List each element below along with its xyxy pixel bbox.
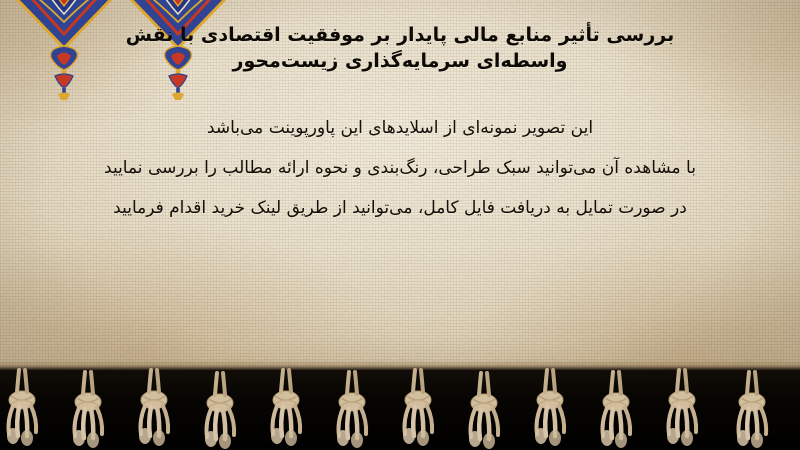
title-line-2: واسطه‌ای سرمایه‌گذاری زیست‌محور [80, 48, 720, 74]
page-title: بررسی تأثیر منابع مالی پایدار بر موفقیت … [80, 22, 720, 74]
band-top-edge [0, 360, 800, 370]
body-text: این تصویر نمونه‌ای از اسلایدهای این پاور… [40, 108, 760, 228]
title-line-1: بررسی تأثیر منابع مالی پایدار بر موفقیت … [80, 22, 720, 48]
bottom-dark-band [0, 370, 800, 450]
presentation-slide: بررسی تأثیر منابع مالی پایدار بر موفقیت … [0, 0, 800, 450]
slide-text-content: بررسی تأثیر منابع مالی پایدار بر موفقیت … [0, 0, 800, 228]
body-line-1: این تصویر نمونه‌ای از اسلایدهای این پاور… [40, 108, 760, 148]
body-line-3: در صورت تمایل به دریافت فایل کامل، می‌تو… [40, 188, 760, 228]
body-line-2: با مشاهده آن می‌توانید سبک طراحی، رنگ‌بن… [40, 148, 760, 188]
